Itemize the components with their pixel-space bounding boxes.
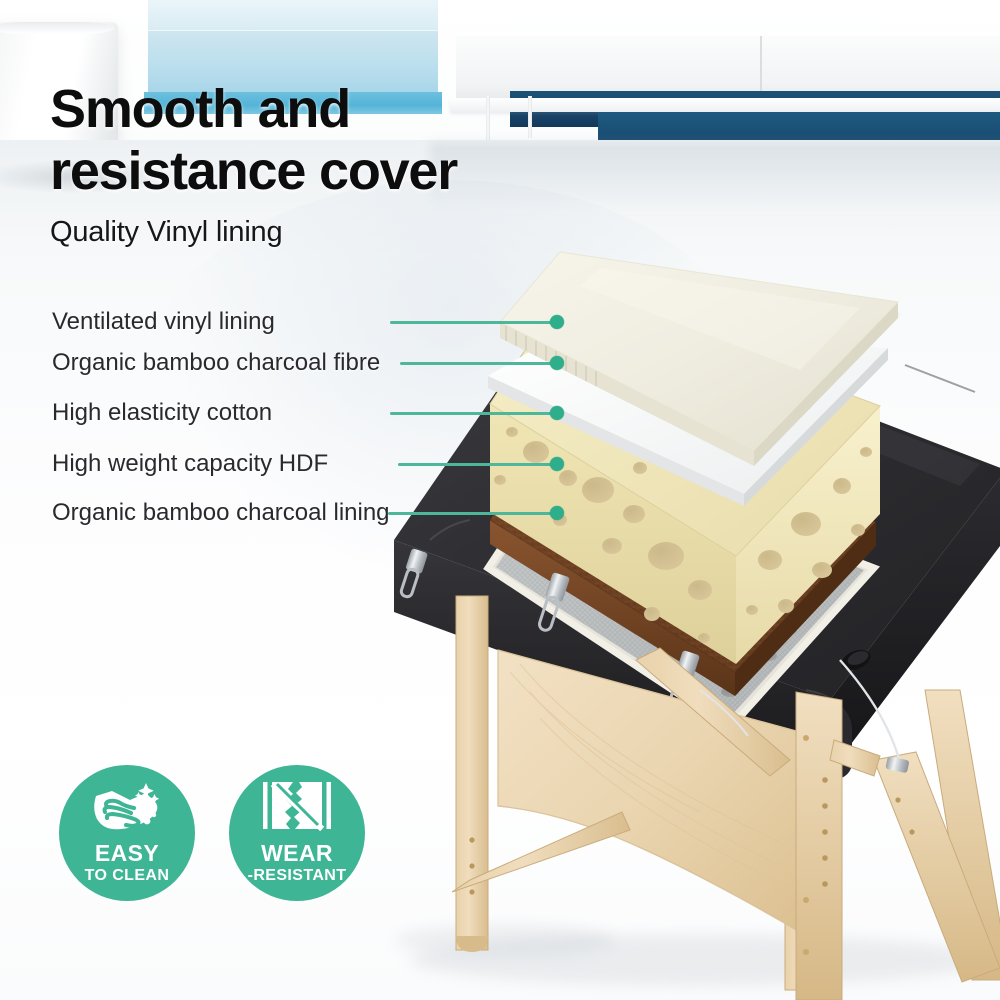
- leader-dot-2: [550, 356, 564, 370]
- leader-line-4: [398, 463, 557, 466]
- callout-row-high-elasticity-cotton: High elasticity cotton: [52, 396, 272, 430]
- callout-label: Organic bamboo charcoal lining: [52, 499, 390, 527]
- badge-title: EASY: [95, 841, 159, 865]
- callout-row-organic-bamboo-charcoal-fibre: Organic bamboo charcoal fibre: [52, 346, 380, 380]
- leader-dot-4: [550, 457, 564, 471]
- leader-dot-5: [550, 506, 564, 520]
- callout-row-ventilated-vinyl-lining: Ventilated vinyl lining: [52, 305, 275, 339]
- hand-wiping-cloth-icon: [90, 781, 164, 836]
- badge-wear-resistant: WEAR -RESISTANT: [229, 765, 365, 901]
- callout-row-organic-bamboo-charcoal-lining: Organic bamboo charcoal lining: [52, 496, 390, 530]
- leader-dot-1: [550, 315, 564, 329]
- infographic-canvas: Smooth and resistance cover Quality Viny…: [0, 0, 1000, 1000]
- leader-line-1: [390, 321, 557, 324]
- torn-fabric-no-tear-icon: [263, 781, 331, 836]
- callout-label: Ventilated vinyl lining: [52, 308, 275, 336]
- badge-easy-to-clean: EASY TO CLEAN: [59, 765, 195, 901]
- leader-line-5: [388, 512, 557, 515]
- badge-title: WEAR: [261, 841, 333, 865]
- leader-line-3: [390, 412, 557, 415]
- callout-label: High elasticity cotton: [52, 399, 272, 427]
- badge-subtitle: -RESISTANT: [248, 867, 347, 885]
- callout-label: High weight capacity HDF: [52, 450, 328, 478]
- callout-row-high-weight-capacity-hdf: High weight capacity HDF: [52, 447, 328, 481]
- badge-subtitle: TO CLEAN: [85, 867, 170, 885]
- callout-label: Organic bamboo charcoal fibre: [52, 349, 380, 377]
- leader-dot-3: [550, 406, 564, 420]
- leader-line-2: [400, 362, 557, 365]
